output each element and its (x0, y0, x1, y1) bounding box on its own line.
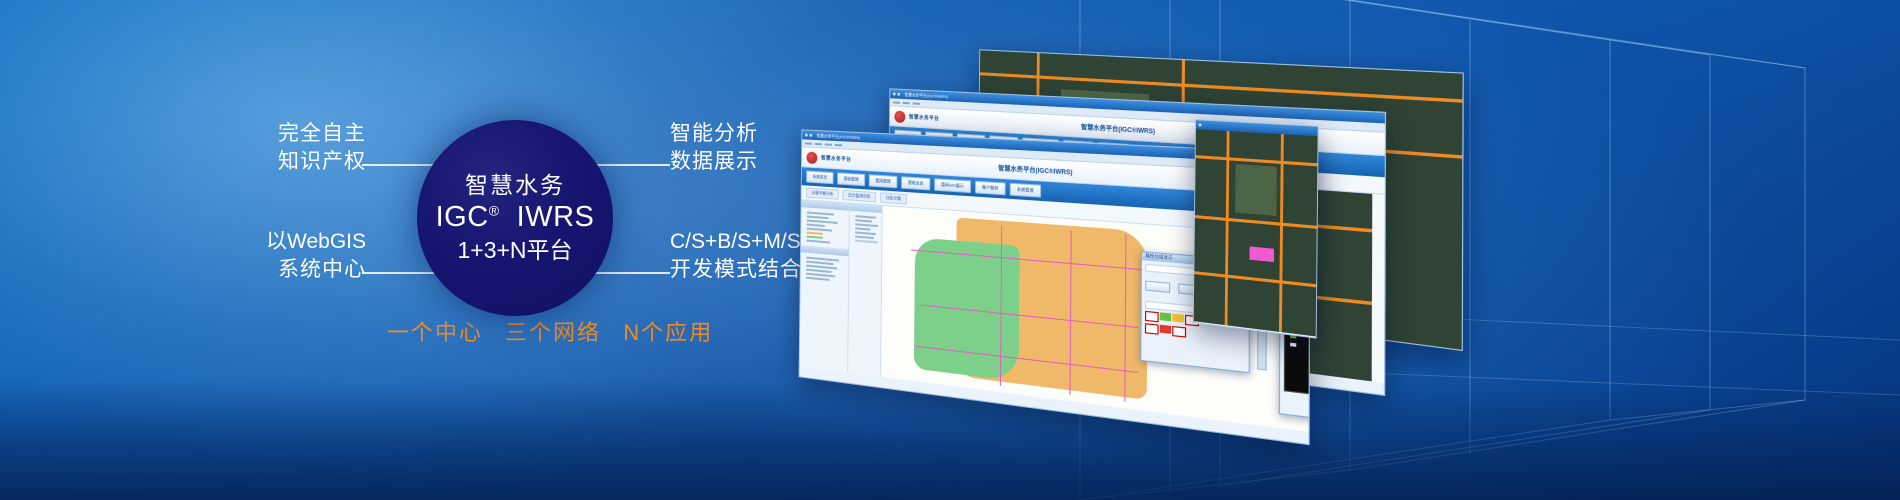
water-drop-logo-icon (894, 110, 905, 123)
tool-item[interactable] (855, 223, 878, 227)
feature-line-2: 知识产权 (270, 148, 366, 176)
window-control-dot (897, 93, 900, 96)
menu-item[interactable] (825, 143, 832, 145)
app-window-satellite[interactable] (1193, 119, 1319, 338)
nav-item[interactable]: 系统首页 (806, 170, 833, 184)
nav-item[interactable]: 客户服务 (975, 181, 1006, 196)
feature-line-2: 开发模式结合 (670, 256, 802, 284)
feature-line-1: 智能分析 (670, 120, 758, 148)
floor-shadow (0, 380, 1900, 500)
tool-panel[interactable] (848, 204, 883, 377)
app-title: 智慧水务平台(IGC®IWRS) (1081, 122, 1155, 136)
tool-item[interactable] (855, 236, 874, 240)
swatch-white (1145, 311, 1159, 322)
attribute-list[interactable] (801, 252, 849, 287)
menu-item[interactable] (835, 143, 842, 145)
satellite-map-view[interactable] (1194, 129, 1318, 336)
subnav-item[interactable]: 水量平衡分析 (806, 187, 839, 199)
window-control-dot (809, 134, 812, 137)
window-control-dot (805, 133, 808, 136)
legend-swatch (807, 232, 823, 235)
nav-item[interactable]: 管网管理 (869, 174, 898, 188)
hub-line-2: IGC® IWRS (436, 202, 595, 234)
feature-label-bottom-right: C/S+B/S+M/S 开发模式结合 (670, 228, 802, 283)
feature-line-2: 系统中心 (262, 256, 366, 284)
feature-line-2: 数据展示 (670, 148, 758, 176)
center-hub: 智慧水务 IGC® IWRS 1+3+N平台 (417, 120, 613, 316)
water-drop-logo-icon (806, 151, 817, 164)
tool-item[interactable] (855, 227, 870, 230)
swatch-yellow (1172, 314, 1184, 323)
window-control-dot (893, 92, 896, 95)
hub-line-1: 智慧水务 (465, 172, 565, 198)
feature-label-bottom-left: 以WebGIS 系统中心 (262, 228, 366, 283)
tagline-part-2: 三个网络 (505, 320, 601, 345)
green-area (1235, 164, 1277, 216)
tool-item[interactable] (855, 219, 872, 222)
infographic: 完全自主 知识产权 以WebGIS 系统中心 智能分析 数据展示 C/S+B/S… (270, 100, 790, 330)
tool-item-selected[interactable] (855, 240, 878, 244)
road-line (1279, 134, 1284, 332)
swatch-white (1145, 323, 1159, 335)
subnav-item[interactable]: 压力监测分析 (843, 190, 877, 202)
tagline-part-1: 一个中心 (387, 320, 483, 345)
road-line (1194, 271, 1316, 287)
feature-label-top-left: 完全自主 知识产权 (270, 120, 366, 175)
swatch-white (1172, 326, 1186, 338)
feature-line-1: 以WebGIS (262, 228, 366, 256)
highlight-parcel (1249, 246, 1274, 262)
hub-igc: IGC (436, 201, 489, 233)
tool-item[interactable] (855, 215, 876, 219)
connector-line-bottom-left (362, 272, 444, 274)
app-title: 智慧水务平台(IGC®IWRS) (998, 163, 1072, 177)
nav-item[interactable]: 基础管理 (837, 172, 865, 186)
legend-swatch (806, 236, 822, 239)
road-line (1195, 215, 1317, 229)
feature-label-top-right: 智能分析 数据展示 (670, 120, 758, 175)
nav-item[interactable]: 系统管理 (1010, 183, 1041, 198)
nav-item[interactable]: 营收业务 (901, 176, 930, 190)
tree-node[interactable] (807, 216, 829, 220)
swatch-red (1160, 325, 1171, 334)
attribute-row (806, 277, 830, 281)
tool-list[interactable] (849, 211, 881, 248)
subnav-item[interactable]: 分区计量 (880, 192, 907, 204)
layer-tree-panel[interactable] (800, 200, 850, 372)
registered-mark-icon: ® (489, 202, 500, 218)
hub-line-3: 1+3+N平台 (457, 237, 572, 265)
feature-line-1: 完全自主 (270, 120, 366, 148)
menu-item[interactable] (815, 142, 822, 144)
window-control-dot (1199, 123, 1202, 126)
nav-item[interactable]: 管网GIS展示 (934, 178, 971, 193)
tagline-part-3: N个应用 (623, 320, 713, 345)
hub-iwrs: IWRS (517, 201, 595, 233)
menu-item[interactable] (893, 101, 900, 103)
tagline: 一个中心 三个网络 N个应用 (270, 315, 830, 347)
feature-line-1: C/S+B/S+M/S (670, 228, 802, 256)
tool-item[interactable] (855, 231, 876, 235)
menu-item[interactable] (903, 101, 910, 103)
menu-item[interactable] (913, 102, 920, 104)
menu-item[interactable] (805, 142, 812, 144)
tree-node[interactable] (806, 240, 830, 244)
connector-line-top-right (588, 164, 670, 166)
tree-node[interactable] (807, 224, 825, 227)
screenshot-stack: 智慧水务平台 智慧水务平台(IGC®IWRS) 系统首页 基础管理 管网管理 营… (790, 45, 1600, 375)
query-button[interactable] (1145, 281, 1170, 293)
layer-tree[interactable] (801, 207, 849, 249)
brand-name: 智慧水务平台 (909, 113, 939, 122)
banner-root: 智慧水务平台 智慧水务平台(IGC®IWRS) 系统首页 基础管理 管网管理 营… (0, 0, 1900, 500)
brand-name: 智慧水务平台 (821, 154, 851, 163)
swatch-green (1160, 312, 1171, 321)
connector-line-bottom-right (588, 272, 670, 274)
